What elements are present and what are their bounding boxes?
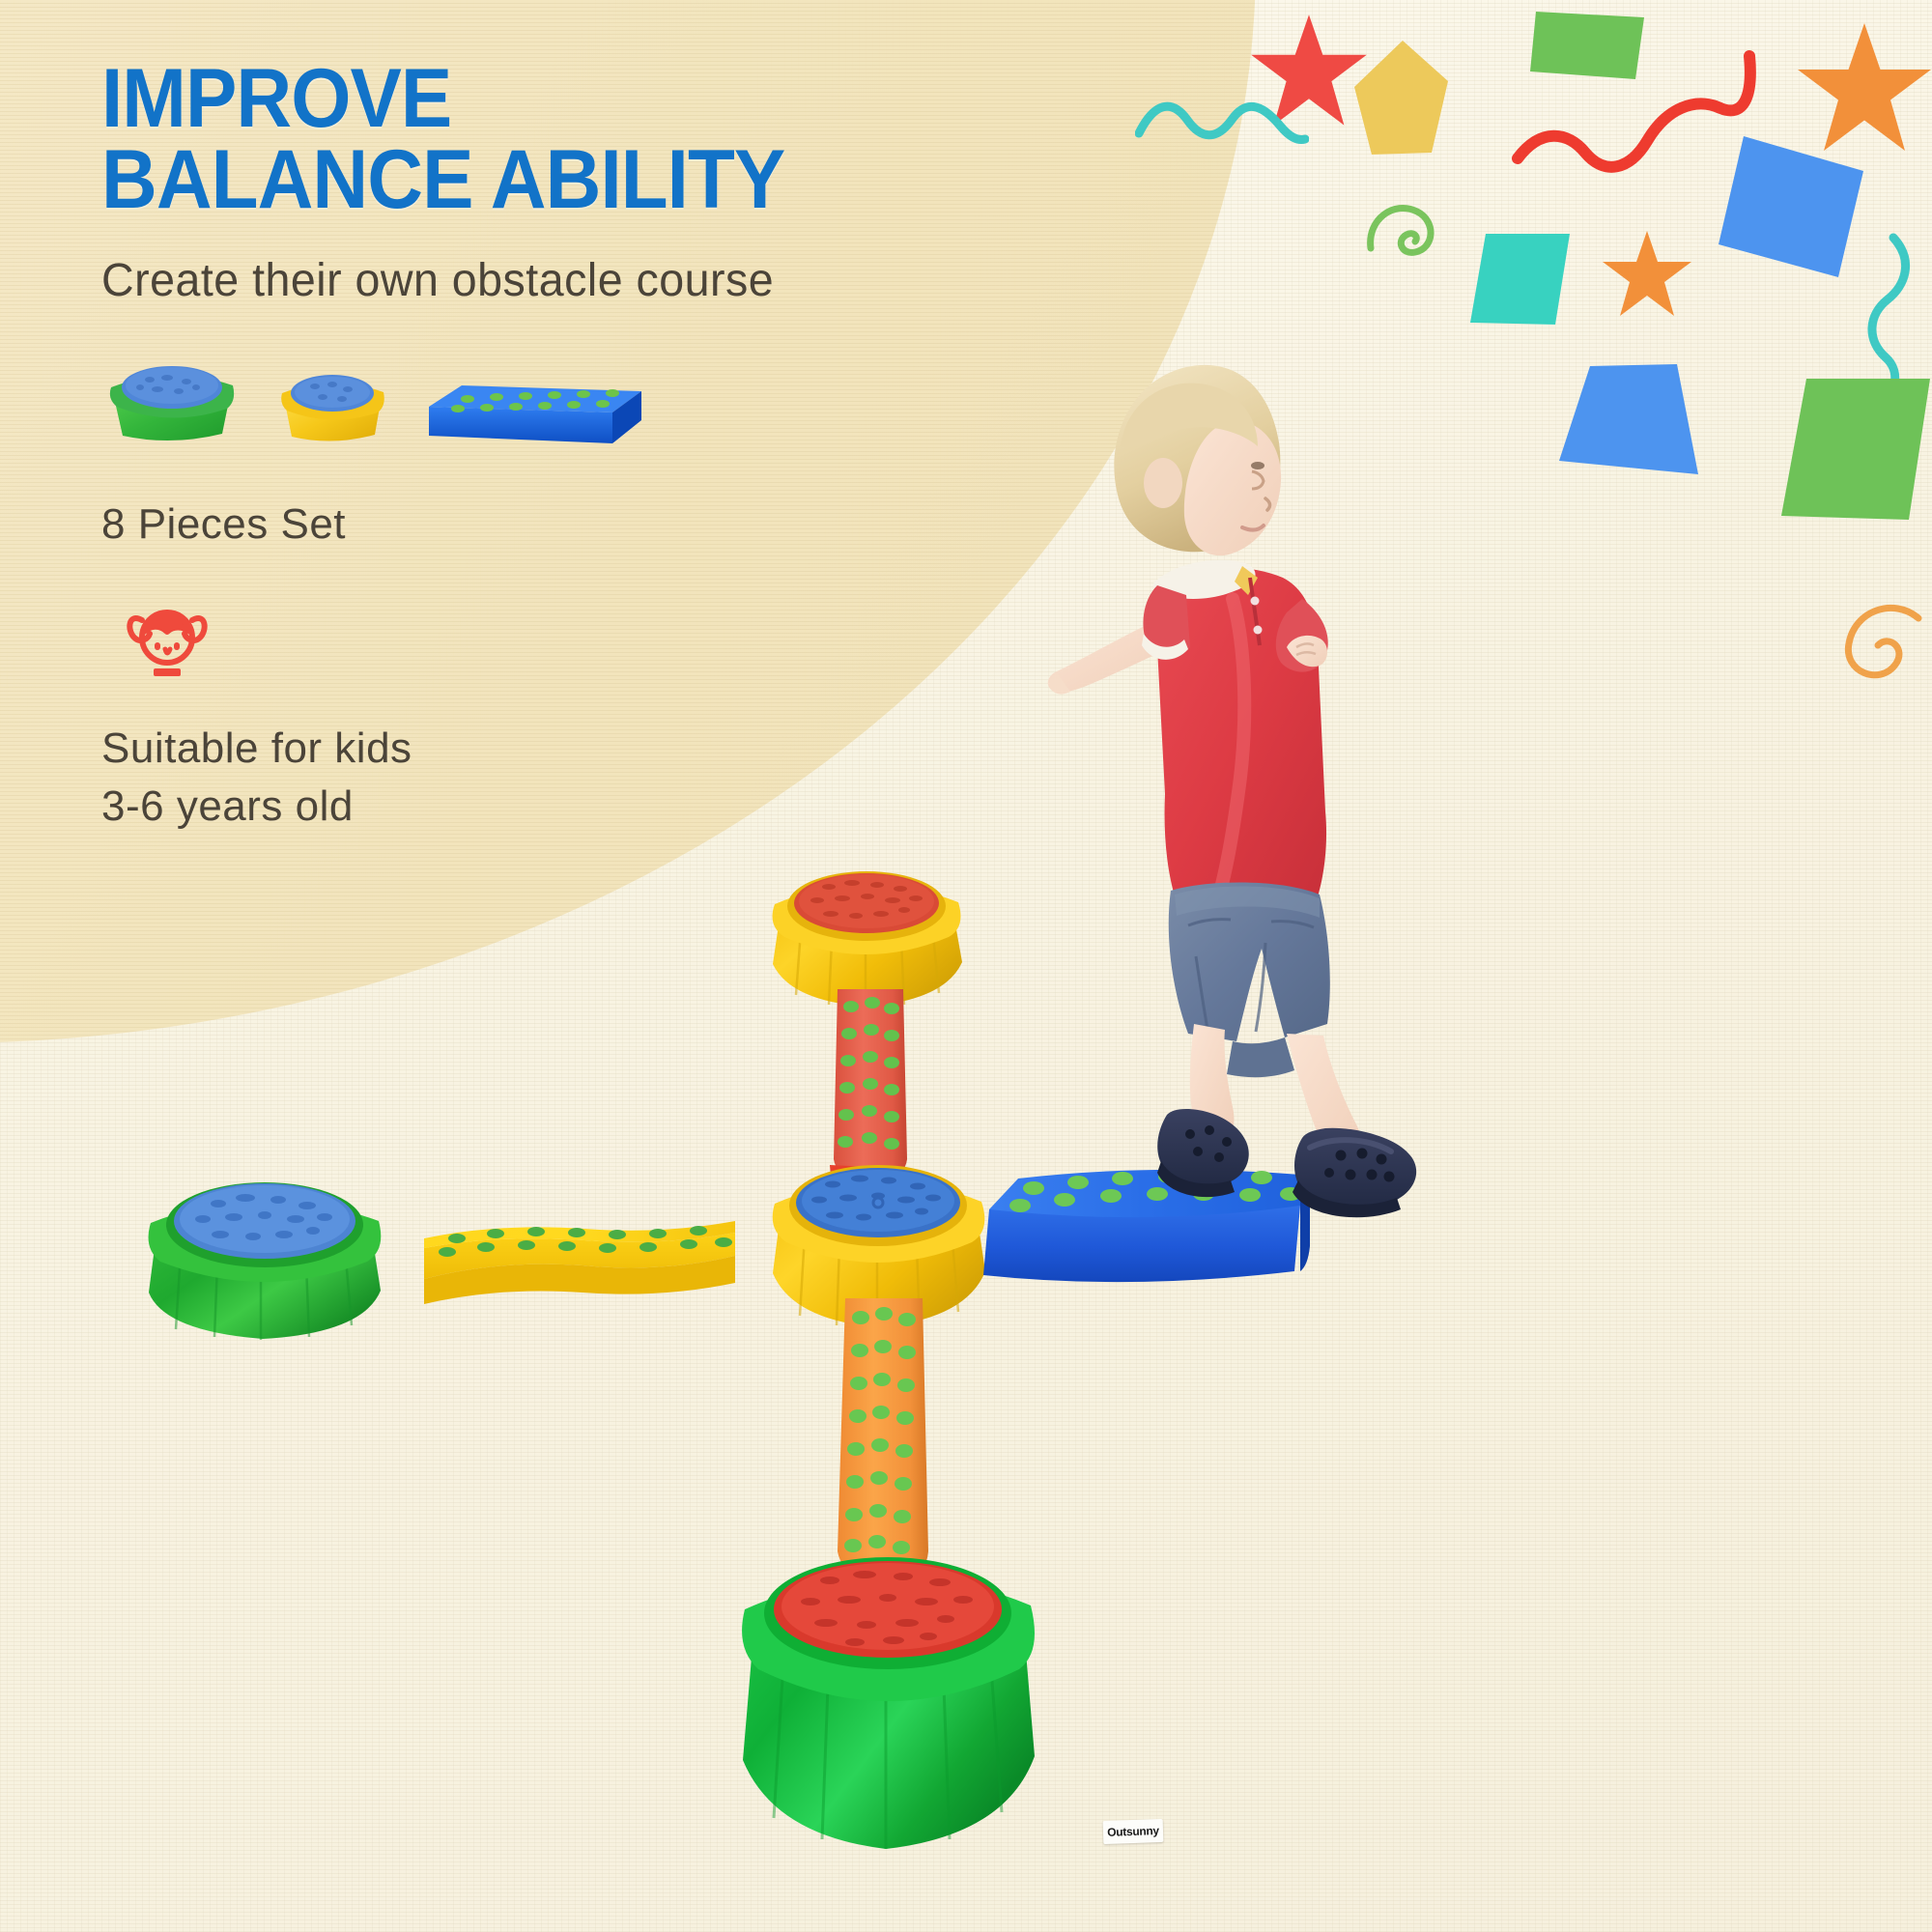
blue-balance-beam-thumb bbox=[423, 364, 645, 446]
green-stepping-stone-thumb bbox=[101, 355, 241, 446]
age-line-2: 3-6 years old bbox=[101, 778, 1029, 837]
subheadline: Create their own obstacle course bbox=[101, 254, 1001, 307]
copy-block: IMPROVE BALANCE ABILITY Create their own… bbox=[101, 58, 1029, 837]
brand-name: Outsunny bbox=[1107, 1824, 1159, 1839]
page-title: IMPROVE BALANCE ABILITY bbox=[101, 58, 964, 221]
age-line-1: Suitable for kids bbox=[101, 720, 1029, 779]
yellow-balance-beam bbox=[420, 1198, 739, 1323]
child-walking bbox=[1043, 357, 1449, 1246]
brand-label: Outsunny bbox=[1103, 1819, 1164, 1844]
yellow-stepping-stone-thumb bbox=[274, 367, 390, 446]
headline-line-1: IMPROVE bbox=[101, 52, 451, 145]
kid-icon-container bbox=[119, 589, 1029, 683]
headline-line-2: BALANCE ABILITY bbox=[101, 139, 964, 220]
girl-face-icon bbox=[119, 589, 215, 678]
green-stepping-stone bbox=[135, 1169, 396, 1343]
thumbnail-row bbox=[101, 340, 1029, 446]
age-range-label: Suitable for kids 3-6 years old bbox=[101, 720, 1029, 837]
pieces-count-label: 8 Pieces Set bbox=[101, 500, 1029, 549]
promo-banner: IMPROVE BALANCE ABILITY Create their own… bbox=[0, 0, 1932, 1932]
green-base-stone bbox=[729, 1517, 1048, 1855]
